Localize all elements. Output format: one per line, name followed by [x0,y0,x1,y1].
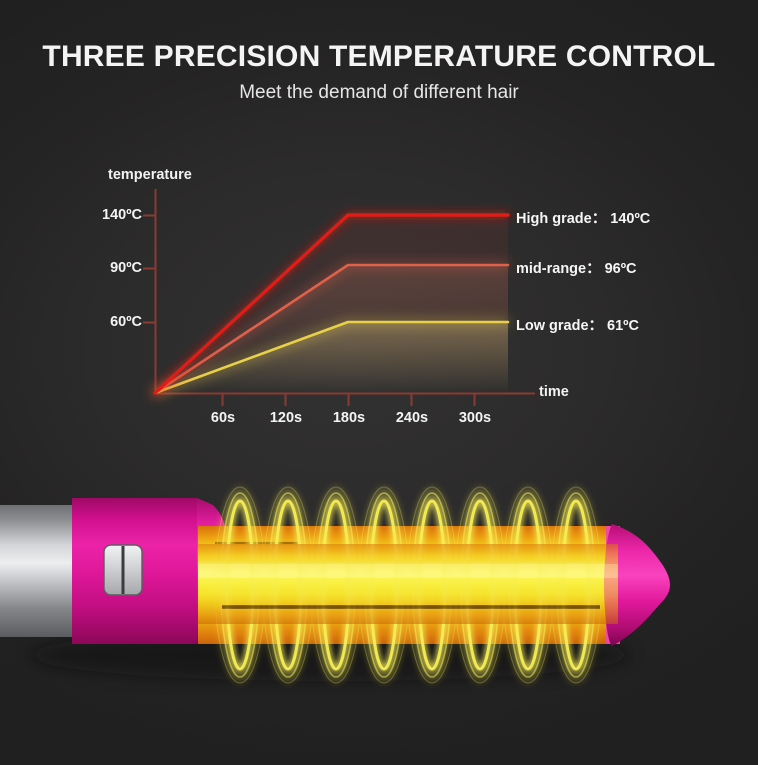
page-background: THREE PRECISION TEMPERATURE CONTROL Meet… [0,0,758,760]
x-tick-label-300s: 300s [445,410,505,426]
high-grade-haze [155,215,508,393]
y-tick-label-60: 60ºC [72,314,142,330]
x-tick-label-240s: 240s [382,410,442,426]
legend-item-low-grade: Low grade： 61ºC [516,314,639,335]
x-tick-label-60s: 60s [193,410,253,426]
y-axis-title: temperature [108,167,192,183]
power-switch-button[interactable] [104,545,142,595]
product-image-curling-iron [0,440,758,760]
y-tick-label-90: 90ºC [72,260,142,276]
x-axis-title: time [539,384,569,400]
y-tick-label-140: 140ºC [72,207,142,223]
handle [0,505,80,637]
barrel-front-overlay [198,544,618,624]
temperature-chart: temperature time 140ºC 90ºC 60ºC 60s 120… [0,0,758,460]
product-svg [0,440,758,760]
legend-item-high-grade: High grade： 140ºC [516,207,650,228]
legend-item-mid-range: mid-range： 96ºC [516,257,637,278]
x-tick-label-120s: 120s [256,410,316,426]
x-tick-label-180s: 180s [319,410,379,426]
chart-svg [0,0,758,460]
